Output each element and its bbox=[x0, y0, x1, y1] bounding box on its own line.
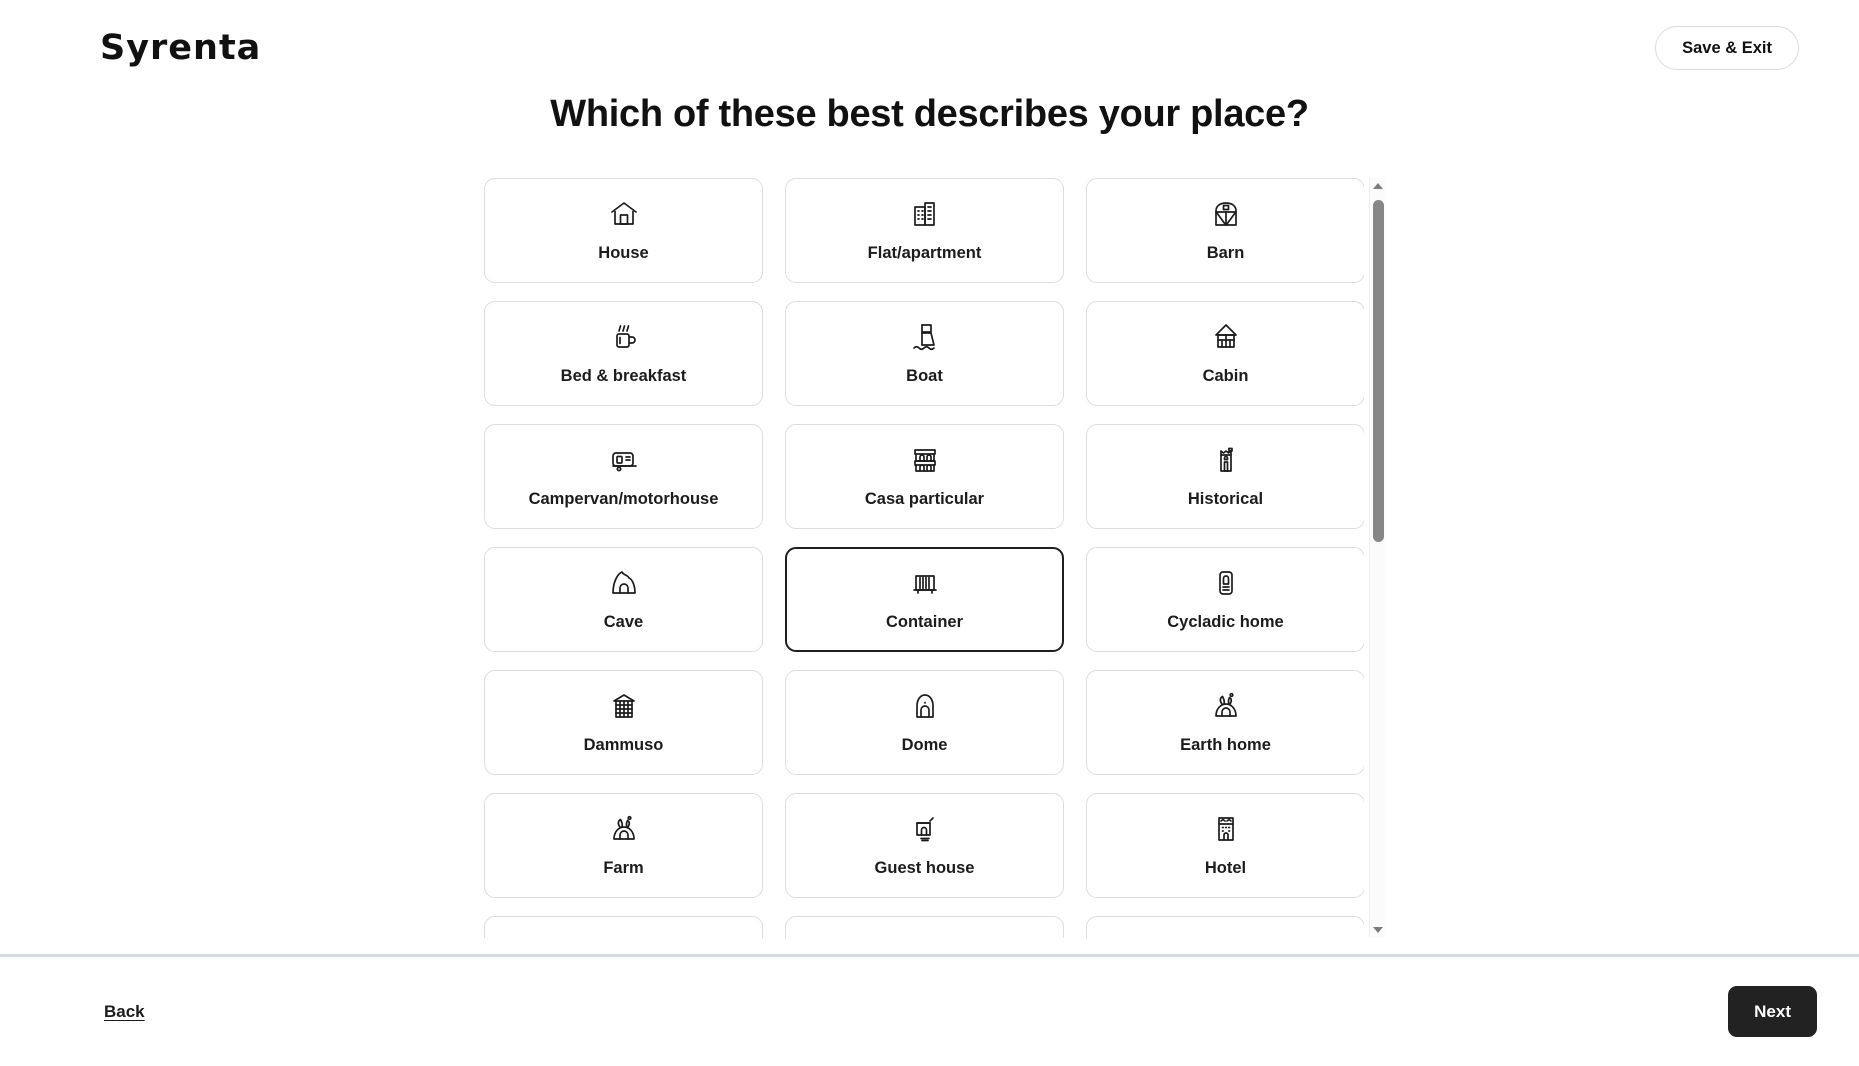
barn-icon bbox=[1210, 198, 1242, 230]
property-type-card-guest-house[interactable]: Guest house bbox=[785, 793, 1064, 898]
property-type-label: Cycladic home bbox=[1167, 613, 1283, 632]
app-header: Syrenta Save & Exit bbox=[0, 0, 1859, 96]
property-type-scrollbar[interactable] bbox=[1369, 178, 1385, 938]
property-type-card-farm[interactable]: Farm bbox=[484, 793, 763, 898]
property-type-label: Boat bbox=[906, 367, 943, 386]
cycladic-home-icon bbox=[1210, 567, 1242, 599]
property-type-label: Guest house bbox=[875, 859, 975, 878]
property-type-card-flat-apartment[interactable]: Flat/apartment bbox=[785, 178, 1064, 283]
scroll-up-arrow-icon[interactable] bbox=[1370, 178, 1386, 194]
boat-icon bbox=[909, 321, 941, 353]
cave-icon bbox=[608, 567, 640, 599]
property-type-label: House bbox=[598, 244, 648, 263]
property-type-card-cabin[interactable]: Cabin bbox=[1086, 301, 1364, 406]
back-button[interactable]: Back bbox=[100, 996, 149, 1028]
cabin-icon bbox=[1210, 321, 1242, 353]
flat-apartment-icon bbox=[909, 198, 941, 230]
property-type-label: Casa particular bbox=[865, 490, 984, 509]
bed-and-breakfast-icon bbox=[608, 321, 640, 353]
save-and-exit-button[interactable]: Save & Exit bbox=[1655, 26, 1799, 71]
property-type-label: Barn bbox=[1207, 244, 1245, 263]
casa-particular-icon bbox=[909, 444, 941, 476]
campervan-icon bbox=[608, 444, 640, 476]
earth-home-icon bbox=[1210, 690, 1242, 722]
property-type-label: Cabin bbox=[1203, 367, 1249, 386]
scrollbar-thumb[interactable] bbox=[1373, 200, 1384, 542]
page-title: Which of these best describes your place… bbox=[0, 92, 1859, 138]
property-type-card-bed-breakfast[interactable]: Bed & breakfast bbox=[484, 301, 763, 406]
property-type-label: Hotel bbox=[1205, 859, 1246, 878]
property-type-label: Flat/apartment bbox=[868, 244, 982, 263]
farm-icon bbox=[608, 813, 640, 845]
property-type-label: Dammuso bbox=[584, 736, 664, 755]
app-footer: Back Next bbox=[0, 957, 1859, 1066]
next-button[interactable]: Next bbox=[1728, 986, 1817, 1037]
property-type-card-boat[interactable]: Boat bbox=[785, 301, 1064, 406]
property-type-card-cave[interactable]: Cave bbox=[484, 547, 763, 652]
property-type-label: Earth home bbox=[1180, 736, 1271, 755]
property-type-scroll-region: HouseFlat/apartmentBarnBed & breakfastBo… bbox=[484, 178, 1385, 938]
property-type-card[interactable] bbox=[785, 916, 1064, 938]
property-type-card[interactable] bbox=[484, 916, 763, 938]
property-type-card-house[interactable]: House bbox=[484, 178, 763, 283]
hotel-icon bbox=[1210, 813, 1242, 845]
property-type-card-earth-home[interactable]: Earth home bbox=[1086, 670, 1364, 775]
guest-house-icon bbox=[909, 813, 941, 845]
scroll-down-arrow-icon[interactable] bbox=[1370, 922, 1386, 938]
property-type-card-hotel[interactable]: Hotel bbox=[1086, 793, 1364, 898]
property-type-label: Campervan/motorhouse bbox=[529, 490, 719, 509]
container-icon bbox=[909, 567, 941, 599]
page-root: Syrenta Save & Exit Which of these best … bbox=[0, 0, 1859, 1066]
property-type-grid: HouseFlat/apartmentBarnBed & breakfastBo… bbox=[484, 178, 1364, 938]
property-type-label: Bed & breakfast bbox=[561, 367, 687, 386]
property-type-card[interactable] bbox=[1086, 916, 1364, 938]
property-type-card-barn[interactable]: Barn bbox=[1086, 178, 1364, 283]
property-type-card-dome[interactable]: Dome bbox=[785, 670, 1064, 775]
historical-icon bbox=[1210, 444, 1242, 476]
property-type-label: Cave bbox=[604, 613, 643, 632]
dammuso-icon bbox=[608, 690, 640, 722]
dome-icon bbox=[909, 690, 941, 722]
property-type-card-historical[interactable]: Historical bbox=[1086, 424, 1364, 529]
property-type-card-casa-particular[interactable]: Casa particular bbox=[785, 424, 1064, 529]
property-type-label: Historical bbox=[1188, 490, 1263, 509]
house-icon bbox=[608, 198, 640, 230]
property-type-card-container[interactable]: Container bbox=[785, 547, 1064, 652]
brand-logo[interactable]: Syrenta bbox=[100, 31, 261, 66]
property-type-label: Container bbox=[886, 613, 963, 632]
property-type-label: Dome bbox=[902, 736, 948, 755]
property-type-card-cycladic-home[interactable]: Cycladic home bbox=[1086, 547, 1364, 652]
property-type-viewport: HouseFlat/apartmentBarnBed & breakfastBo… bbox=[484, 178, 1364, 938]
property-type-card-dammuso[interactable]: Dammuso bbox=[484, 670, 763, 775]
property-type-label: Farm bbox=[603, 859, 643, 878]
property-type-card-campervan-motorhouse[interactable]: Campervan/motorhouse bbox=[484, 424, 763, 529]
